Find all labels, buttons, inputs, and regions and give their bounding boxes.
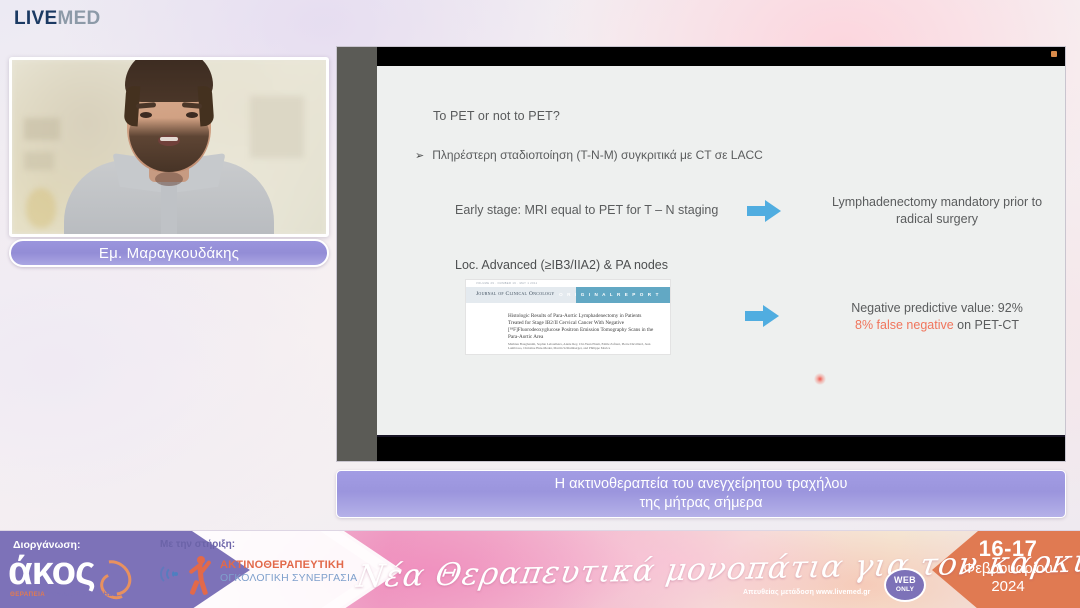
session-title-banner: Η ακτινοθεραπεία του ανεγχείρητου τραχήλ… — [336, 470, 1066, 518]
aktinotherapeytiki-logo: ΑΚΤΙΝΟΘΕΡΑΠΕΥΤΙΚΗ ΟΓΚΟΛΟΓΙΚΗ ΣΥΝΕΡΓΑΣΙΑ — [158, 555, 338, 595]
slide-npv-text: Negative predictive value: 92% 8% false … — [797, 300, 1066, 334]
aktino-line-1: ΑΚΤΙΝΟΘΕΡΑΠΕΥΤΙΚΗ — [220, 559, 344, 571]
arrow-shaft — [747, 206, 767, 216]
event-date-days: 16-17 — [942, 537, 1074, 560]
journal-name: Journal of Clinical Oncology — [476, 291, 554, 297]
lymph-line-1: Lymphadenectomy mandatory prior to — [797, 194, 1066, 211]
livemed-logo-med: MED — [57, 8, 100, 29]
livemed-logo-live: LIVE — [14, 8, 57, 29]
slide-lymphadenectomy-text: Lymphadenectomy mandatory prior to radic… — [797, 194, 1066, 228]
journal-masthead-meta: VOLUME 29 · NUMBER 19 · MAY 1 2011 — [476, 281, 660, 286]
speaker-figure — [39, 94, 299, 234]
speaker-teeth — [160, 137, 178, 141]
slide-early-stage-text: Early stage: MRI equal to PET for T – N … — [455, 203, 718, 217]
right-arrow-icon — [747, 200, 781, 222]
presentation-slide-viewer[interactable]: To PET or not to PET? ➢Πληρέστερη σταδιο… — [336, 46, 1066, 462]
lymph-line-2: radical surgery — [797, 211, 1066, 228]
arrow-tip — [763, 305, 779, 327]
web-only-badge: WEB ONLY — [884, 568, 926, 602]
akos-logo-text: άκος — [8, 551, 95, 591]
event-date-year: 2024 — [942, 578, 1074, 596]
slide-bullet-item: ➢Πληρέστερη σταδιοποίηση (T-N-M) συγκριτ… — [415, 148, 763, 162]
akos-tagline-part1: ΘΕΡΑΠΕΙΑ — [10, 591, 45, 598]
slide-bullet-text: Πληρέστερη σταδιοποίηση (T-N-M) συγκριτι… — [432, 148, 763, 162]
speaker-nameplate: Εμ. Μαραγκουδάκης — [9, 239, 329, 267]
akos-logo: άκος ΘΕΡΑΠΕΙΑ ΣΩΜΑΤΟΣ & ΨΥΧΗΣ — [8, 551, 148, 599]
session-title-line-1: Η ακτινοθεραπεία του ανεγχείρητου τραχήλ… — [555, 475, 848, 494]
radiation-waves-icon — [158, 561, 184, 587]
arrow-shaft — [745, 311, 765, 321]
running-figure-icon — [184, 556, 214, 594]
speaker-video-feed[interactable] — [9, 57, 329, 237]
npv-line-2: 8% false negative on PET-CT — [797, 317, 1066, 334]
event-footer-banner: Διοργάνωση: Με την στήριξη: άκος ΘΕΡΑΠΕΙ… — [0, 530, 1080, 608]
livemed-logo: LIVEMED — [14, 8, 101, 30]
speaker-eye-right — [186, 112, 198, 118]
livestream-note: Απευθείας μετάδοση www.livemed.gr — [743, 589, 870, 596]
npv-false-negative: 8% false negative — [855, 318, 954, 332]
arrow-tip — [765, 200, 781, 222]
web-only-line-2: ONLY — [896, 585, 914, 594]
event-date-month: Φεβρουαρίου — [942, 560, 1074, 578]
speaker-eye-left — [140, 112, 152, 118]
bullet-arrow-icon: ➢ — [415, 150, 424, 162]
laser-pointer-dot — [814, 373, 826, 385]
slide-heading: To PET or not to PET? — [433, 109, 560, 123]
wave-center-dot — [174, 572, 178, 576]
figure-leg-right — [199, 580, 208, 596]
journal-report-tag: O R I G I N A L R E P O R T — [559, 292, 660, 297]
session-title-line-2: της μήτρας σήμερα — [639, 494, 762, 513]
right-arrow-icon — [745, 305, 779, 327]
npv-suffix: on PET-CT — [954, 318, 1019, 332]
slide-bottom-letterbox — [377, 437, 1065, 461]
slide-top-letterbox — [377, 47, 1065, 66]
support-label: Με την στήριξη: — [160, 539, 235, 550]
speaker-name-label: Εμ. Μαραγκουδάκης — [99, 245, 239, 262]
slide-content: To PET or not to PET? ➢Πληρέστερη σταδιο… — [377, 66, 1065, 435]
speaker-neck-shadow — [155, 172, 183, 186]
akos-tagline: ΘΕΡΑΠΕΙΑ ΣΩΜΑΤΟΣ & ΨΥΧΗΣ — [10, 591, 113, 598]
recording-indicator-dot — [1051, 51, 1057, 57]
npv-line-1: Negative predictive value: 92% — [797, 300, 1066, 317]
journal-article-thumbnail: VOLUME 29 · NUMBER 19 · MAY 1 2011 Journ… — [465, 279, 671, 355]
journal-authors: Mathieu Boughanim, Sophie Leboulleux, An… — [508, 342, 658, 351]
speaker-shirt-placket — [161, 178, 177, 234]
aktino-line-2: ΟΓΚΟΛΟΓΙΚΗ ΣΥΝΕΡΓΑΣΙΑ — [220, 572, 357, 584]
journal-article-title: Histologic Results of Para-Aortic Lympha… — [508, 313, 658, 341]
web-only-line-1: WEB — [894, 576, 916, 585]
slide-locally-advanced-text: Loc. Advanced (≥IB3/IIA2) & PA nodes — [455, 258, 668, 272]
akos-tagline-part2: ΣΩΜΑΤΟΣ & ΨΥΧΗΣ — [47, 591, 112, 598]
event-dates: 16-17 Φεβρουαρίου 2024 — [942, 537, 1074, 596]
